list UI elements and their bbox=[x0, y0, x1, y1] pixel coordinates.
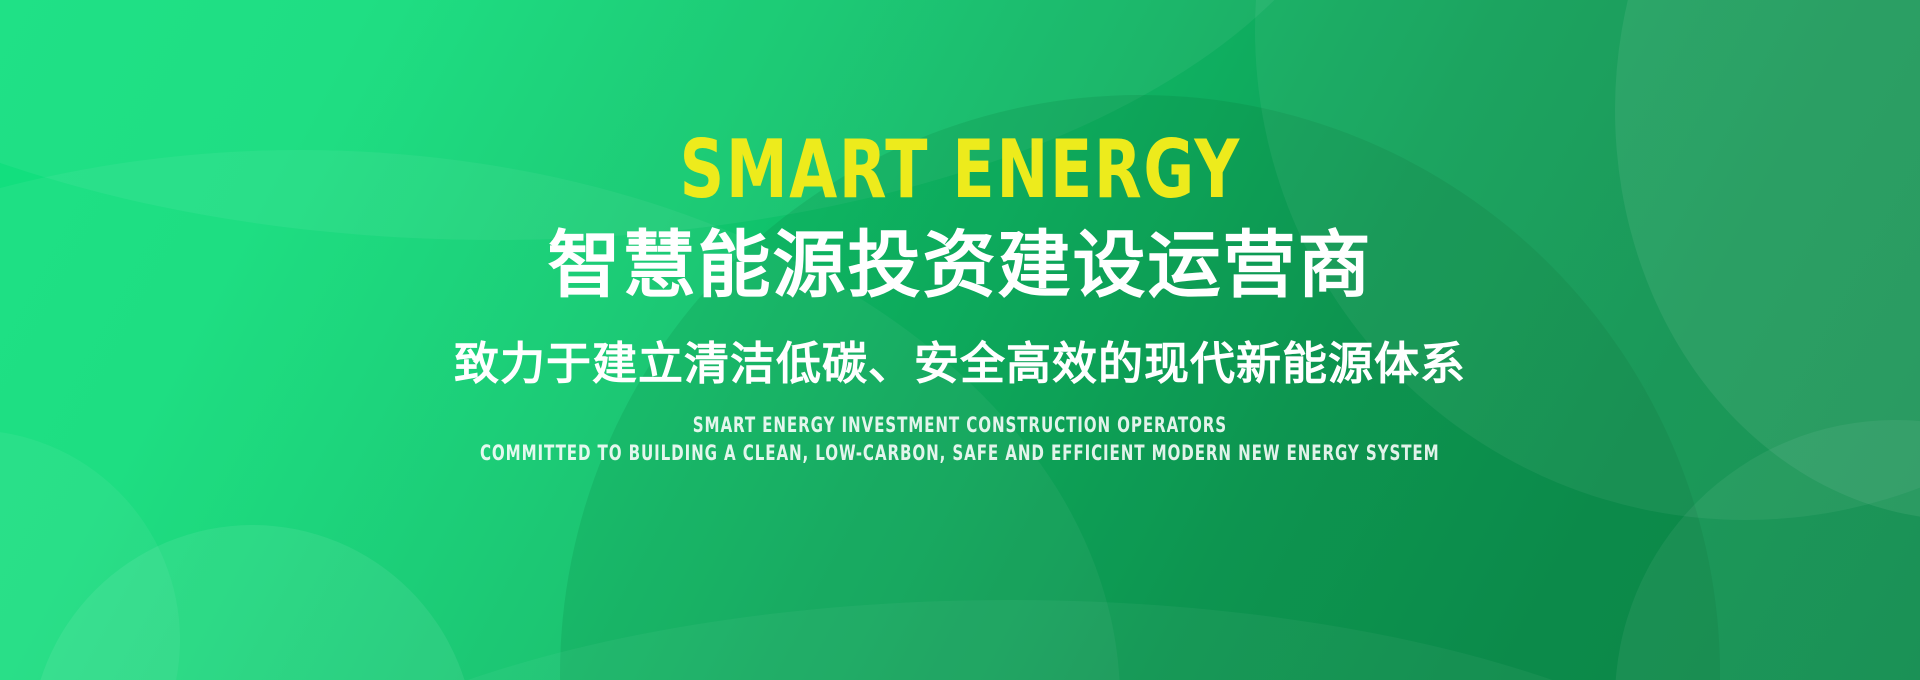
banner-headline-chinese: 智慧能源投资建设运营商 bbox=[548, 226, 1373, 306]
banner-tagline-line-1: SMART ENERGY INVESTMENT CONSTRUCTION OPE… bbox=[693, 412, 1227, 438]
banner-content: SMART ENERGY 智慧能源投资建设运营商 致力于建立清洁低碳、安全高效的… bbox=[0, 0, 1920, 680]
banner-headline-english: SMART ENERGY bbox=[679, 130, 1240, 210]
banner-tagline-group: SMART ENERGY INVESTMENT CONSTRUCTION OPE… bbox=[360, 412, 1560, 466]
banner-subtitle-chinese: 致力于建立清洁低碳、安全高效的现代新能源体系 bbox=[454, 338, 1466, 390]
banner-tagline-line-2: COMMITTED TO BUILDING A CLEAN, LOW-CARBO… bbox=[480, 440, 1440, 466]
hero-banner: SMART ENERGY 智慧能源投资建设运营商 致力于建立清洁低碳、安全高效的… bbox=[0, 0, 1920, 680]
